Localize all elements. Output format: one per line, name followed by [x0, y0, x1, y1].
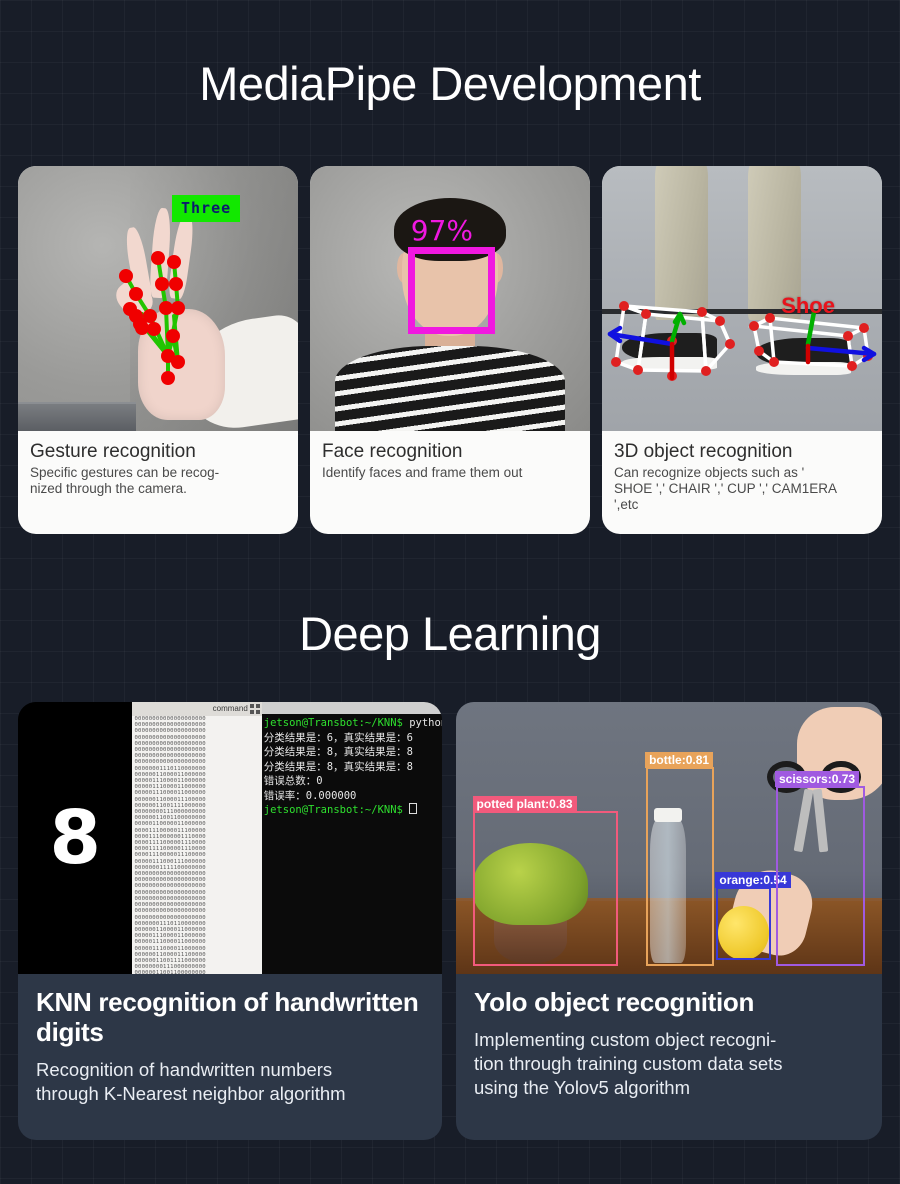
- box-edge-right: [488, 247, 495, 334]
- yolo-demo-image: potted plant:0.83 bottle:0.81 orange:0.5…: [456, 702, 882, 974]
- poster-root: MediaPipe Development: [0, 0, 900, 1184]
- box-edge-top: [408, 247, 495, 254]
- face-recognition-image: 97%: [310, 166, 590, 431]
- page-title-mediapipe: MediaPipe Development: [0, 56, 900, 111]
- terminal-cursor: [409, 803, 417, 814]
- card-title: Yolo object recognition: [474, 988, 864, 1018]
- knn-demo-image: 8 command 00000000000000000000 000000000…: [18, 702, 442, 974]
- card-3d-object-recognition[interactable]: Shoe 3D object recognition Can recognize…: [602, 166, 882, 534]
- binary-matrix-text: 00000000000000000000 0000000000000000000…: [132, 716, 261, 974]
- 3d-wireframe-overlay: [602, 166, 882, 431]
- confidence-label: 97%: [411, 214, 473, 247]
- detection-box-potted-plant: potted plant:0.83: [473, 811, 618, 966]
- 3d-object-recognition-image: Shoe: [602, 166, 882, 431]
- card-body: KNN recognition of handwritten digits Re…: [18, 974, 442, 1122]
- detection-box-orange: orange:0.54: [716, 887, 771, 960]
- gesture-recognition-image: Three: [18, 166, 298, 431]
- card-body: 3D object recognition Can recognize obje…: [602, 431, 882, 519]
- detection-label-potted-plant: potted plant:0.83: [473, 796, 577, 812]
- box-edge-bottom: [408, 327, 495, 334]
- card-title: 3D object recognition: [614, 441, 870, 463]
- digit-preview-pane: 8: [18, 702, 132, 974]
- matrix-pane-title: command: [132, 702, 261, 716]
- card-gesture-recognition[interactable]: Three Gesture recognition Specific gestu…: [18, 166, 298, 534]
- box-edge-left: [408, 247, 415, 334]
- object-label: Shoe: [781, 293, 835, 319]
- card-yolo-recognition[interactable]: potted plant:0.83 bottle:0.81 orange:0.5…: [456, 702, 882, 1140]
- card-body: Yolo object recognition Implementing cus…: [456, 974, 882, 1116]
- detection-box-scissors: scissors:0.73: [776, 786, 865, 966]
- hand-landmarks-overlay: [18, 166, 298, 431]
- card-description: Implementing custom object recogni- tion…: [474, 1028, 864, 1100]
- terminal-line: 错误率：0.000000: [264, 789, 442, 804]
- card-description: Identify faces and frame them out: [322, 465, 578, 481]
- striped-shirt: [335, 346, 565, 431]
- terminal-pane: jetson@Transbot:~/KNN$ python3分类结果是：6，真实…: [262, 702, 442, 974]
- binary-matrix-pane: command 00000000000000000000 00000000000…: [132, 702, 261, 974]
- terminal-output: jetson@Transbot:~/KNN$ python3分类结果是：6，真实…: [262, 714, 442, 818]
- gesture-label: Three: [172, 195, 240, 222]
- terminal-line: 分类结果是：8，真实结果是：8: [264, 760, 442, 775]
- matrix-pane-title-label: command: [213, 704, 248, 713]
- card-title: KNN recognition of handwritten digits: [36, 988, 424, 1048]
- digit-value: 8: [49, 795, 101, 881]
- card-face-recognition[interactable]: 97% Face recognition Identify faces and …: [310, 166, 590, 534]
- terminal-line: jetson@Transbot:~/KNN$ python3: [264, 716, 442, 731]
- terminal-title-bar: [262, 702, 442, 714]
- page-title-deep-learning: Deep Learning: [0, 606, 900, 661]
- card-description: Recognition of handwritten numbers throu…: [36, 1058, 424, 1106]
- card-title: Face recognition: [322, 441, 578, 463]
- grid-icon: [250, 704, 260, 714]
- detection-label-bottle: bottle:0.81: [645, 752, 713, 768]
- card-description: Can recognize objects such as ' SHOE ','…: [614, 465, 870, 513]
- detection-label-scissors: scissors:0.73: [775, 771, 859, 787]
- card-body: Gesture recognition Specific gestures ca…: [18, 431, 298, 503]
- card-body: Face recognition Identify faces and fram…: [310, 431, 590, 487]
- terminal-line: 错误总数：0: [264, 774, 442, 789]
- terminal-line: 分类结果是：6，真实结果是：6: [264, 731, 442, 746]
- terminal-line: 分类结果是：8，真实结果是：8: [264, 745, 442, 760]
- card-knn-recognition[interactable]: 8 command 00000000000000000000 000000000…: [18, 702, 442, 1140]
- card-description: Specific gestures can be recog- nized th…: [30, 465, 286, 497]
- terminal-line: jetson@Transbot:~/KNN$: [264, 803, 442, 818]
- detection-box-bottle: bottle:0.81: [646, 767, 714, 966]
- card-title: Gesture recognition: [30, 441, 286, 463]
- face-bounding-box: [408, 247, 495, 334]
